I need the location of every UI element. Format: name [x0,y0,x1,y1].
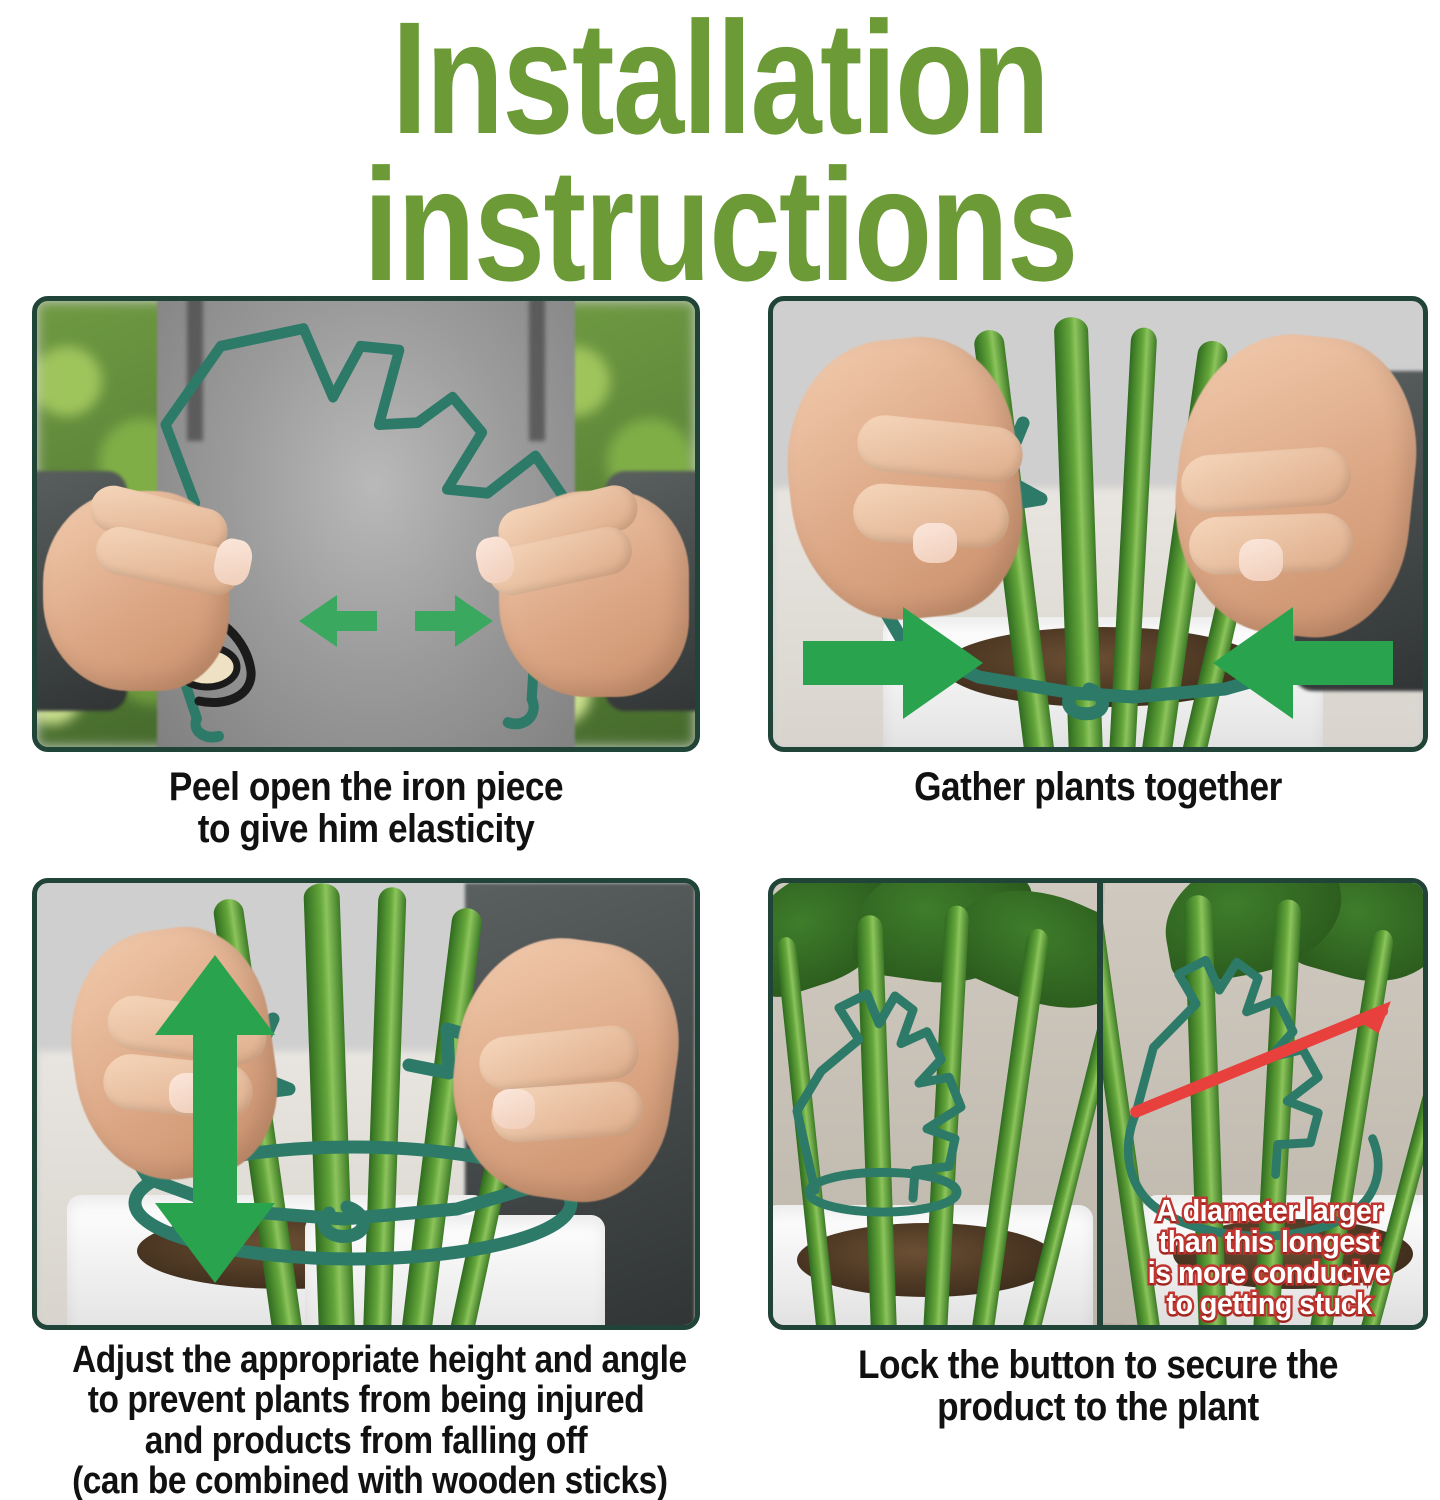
step-4-photo-left [773,883,1097,1325]
step-4: A diameter larger than this longest is m… [768,878,1428,1429]
page-title: Installation instructions [144,4,1296,298]
step-3-photo [32,878,700,1330]
step-4-photo: A diameter larger than this longest is m… [768,878,1428,1330]
wire-support-installed [773,883,1097,1325]
fingernail-right [493,1089,535,1129]
step-1-photo [32,296,700,752]
step-3-caption-line-4: (can be combined with wooden sticks) [72,1461,660,1500]
fingernail-right [1239,539,1283,581]
step-3-caption-line-3: and products from falling off [72,1421,660,1461]
step-1-caption-line-1: Peel open the iron piece [72,766,660,808]
step-3: Adjust the appropriate height and angle … [32,878,700,1500]
page-title-line-2: instructions [144,151,1296,298]
fingernail-left [169,1073,211,1113]
step-3-caption: Adjust the appropriate height and angle … [72,1340,660,1500]
step-3-caption-line-1: Adjust the appropriate height and angle [72,1340,660,1380]
diameter-note-line-4: to getting stuck [1119,1288,1419,1319]
step-1: Peel open the iron piece to give him ela… [32,296,700,851]
step-2-photo [768,296,1428,752]
instruction-infographic: Installation instructions [0,0,1440,1500]
step-3-caption-line-2: to prevent plants from being injured [72,1380,660,1420]
step-2: Gather plants together [768,296,1428,808]
diameter-note-line-2: than this longest [1119,1226,1419,1257]
step-1-caption: Peel open the iron piece to give him ela… [72,766,660,851]
step-4-photo-right: A diameter larger than this longest is m… [1103,883,1423,1325]
step-2-caption-line-1: Gather plants together [808,766,1389,808]
step-1-caption-line-2: to give him elasticity [72,808,660,850]
fingernail-left [913,523,957,563]
diameter-note-overlay: A diameter larger than this longest is m… [1119,1195,1419,1319]
diameter-note-line-1: A diameter larger [1119,1195,1419,1226]
step-4-caption-line-2: product to the plant [808,1386,1389,1428]
step-2-caption: Gather plants together [808,766,1389,808]
finger-right-1 [1179,445,1353,515]
step-4-caption: Lock the button to secure the product to… [808,1344,1389,1429]
step-4-caption-line-1: Lock the button to secure the [808,1344,1389,1386]
diameter-note-line-3: is more conducive [1119,1257,1419,1288]
page-title-line-1: Installation [144,4,1296,151]
